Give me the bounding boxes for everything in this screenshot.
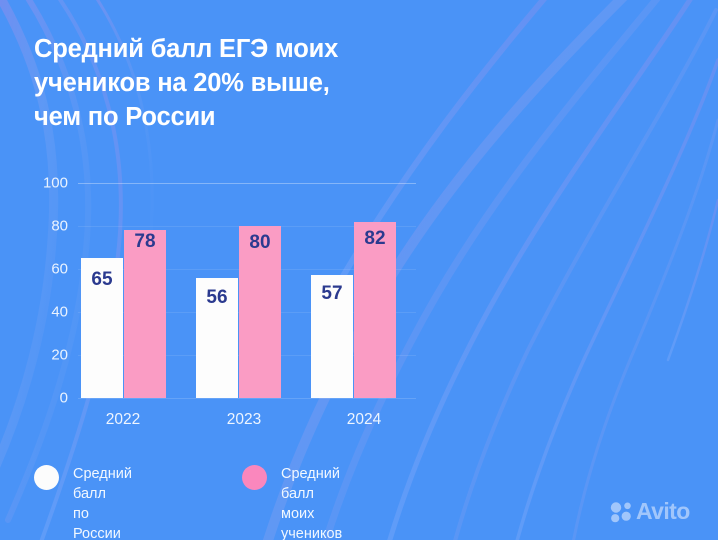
gridline-0 <box>78 398 416 399</box>
legend-label-students: Средний балл моих учеников <box>281 464 342 540</box>
avito-watermark-text: Avito <box>636 500 690 523</box>
bar-2022-students <box>124 230 166 398</box>
legend-label-russia: Средний балл по России <box>73 464 132 540</box>
x-axis-tick-2024: 2024 <box>347 411 381 429</box>
legend-item-russia[interactable]: Средний балл по России <box>34 464 132 540</box>
bar-value-2022-russia: 65 <box>91 269 112 291</box>
bar-value-2023-students: 80 <box>249 232 270 254</box>
infographic-poster: Средний балл ЕГЭ моих учеников на 20% вы… <box>0 0 718 540</box>
bar-value-2024-russia: 57 <box>321 283 342 305</box>
circle-white-icon <box>34 465 59 490</box>
bar-chart: 100 80 60 40 20 0 65 78 56 80 57 82 2022… <box>0 0 718 540</box>
x-axis-tick-2022: 2022 <box>106 411 140 429</box>
bar-value-2022-students: 78 <box>134 231 155 253</box>
bar-value-2023-russia: 56 <box>206 287 227 309</box>
avito-logo-icon <box>609 501 633 523</box>
bar-value-2024-students: 82 <box>364 228 385 250</box>
avito-watermark: Avito <box>609 500 690 523</box>
x-axis-tick-2023: 2023 <box>227 411 261 429</box>
legend-item-students[interactable]: Средний балл моих учеников <box>242 464 342 540</box>
circle-pink-icon <box>242 465 267 490</box>
